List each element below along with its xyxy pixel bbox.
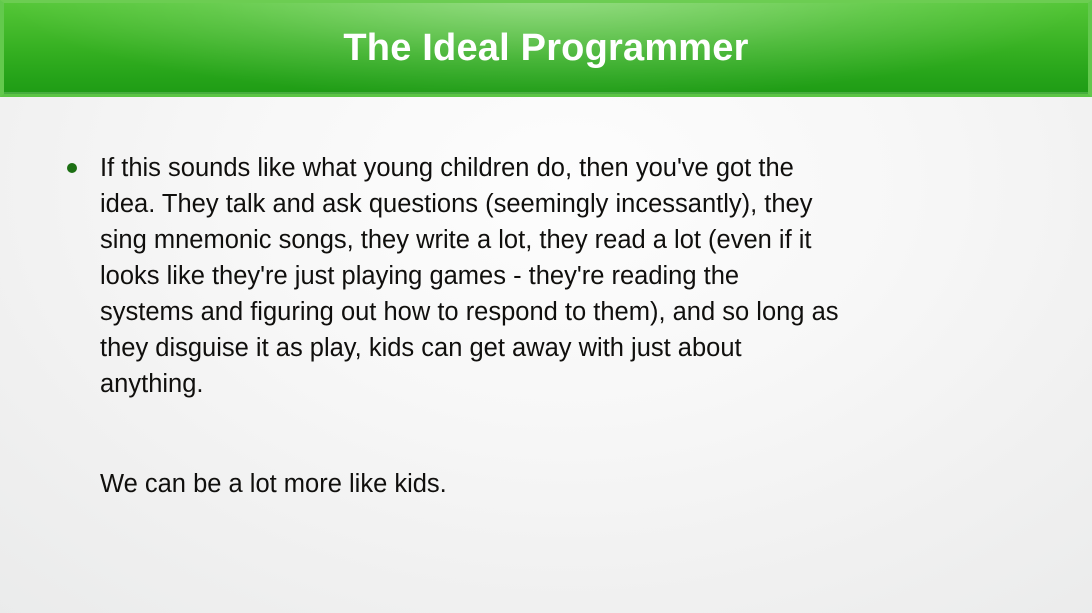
bullet-row: We can be a lot more like kids.	[56, 466, 1056, 502]
presentation-slide: The Ideal Programmer If this sounds like…	[0, 0, 1092, 613]
bullet-list-item: If this sounds like what young children …	[56, 150, 1056, 402]
title-banner: The Ideal Programmer	[0, 0, 1092, 97]
bullet-row: If this sounds like what young children …	[56, 150, 1056, 402]
page-title: The Ideal Programmer	[4, 29, 1088, 69]
paragraph-text: If this sounds like what young children …	[100, 154, 839, 398]
bullet-dot-icon	[67, 163, 77, 173]
paragraph-text: We can be a lot more like kids.	[100, 470, 447, 498]
closing-statement: We can be a lot more like kids.	[56, 466, 1056, 502]
slide-body: If this sounds like what young children …	[0, 97, 1092, 613]
